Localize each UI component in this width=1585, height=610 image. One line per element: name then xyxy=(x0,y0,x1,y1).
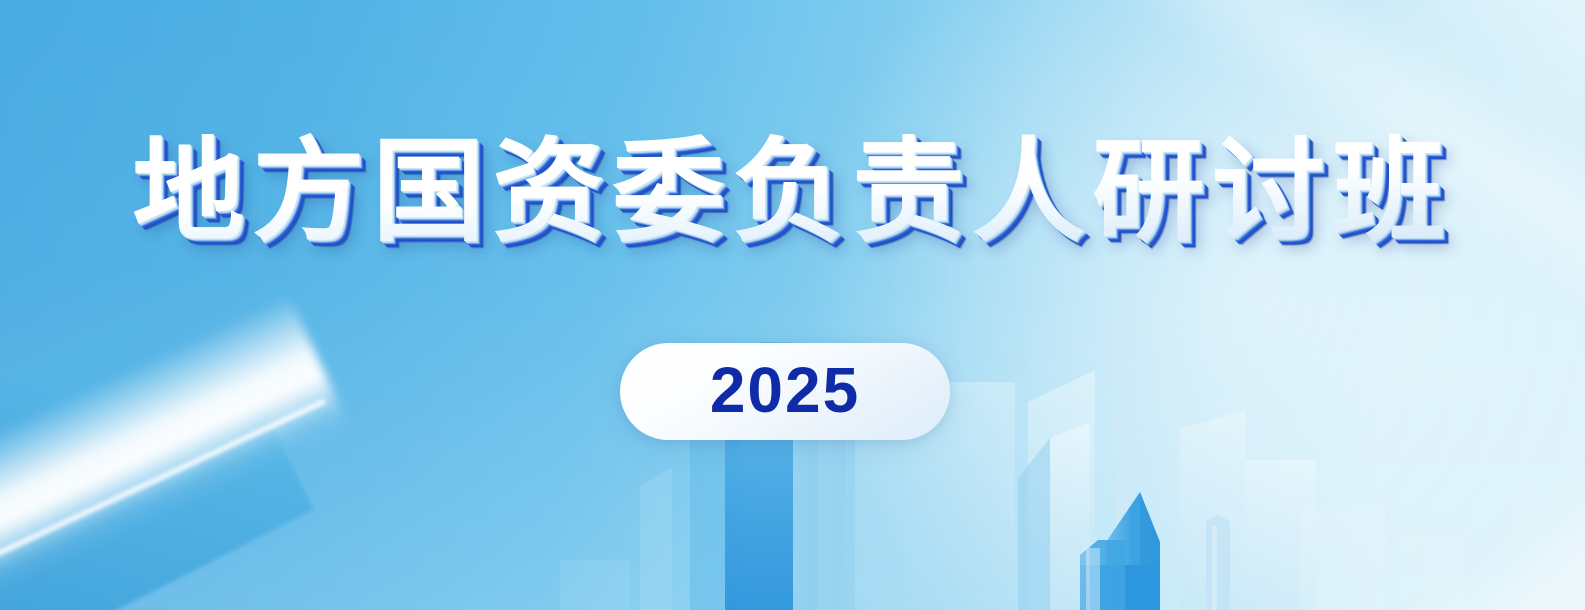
banner-hero: 地方国资委负责人研讨班 地方国资委负责人研讨班 2025 xyxy=(0,0,1585,610)
banner-title-text: 地方国资委负责人研讨班 xyxy=(133,127,1453,257)
year-badge-label: 2025 xyxy=(710,358,860,425)
year-badge: 2025 xyxy=(620,343,950,440)
banner-title: 地方国资委负责人研讨班 地方国资委负责人研讨班 xyxy=(0,136,1585,248)
